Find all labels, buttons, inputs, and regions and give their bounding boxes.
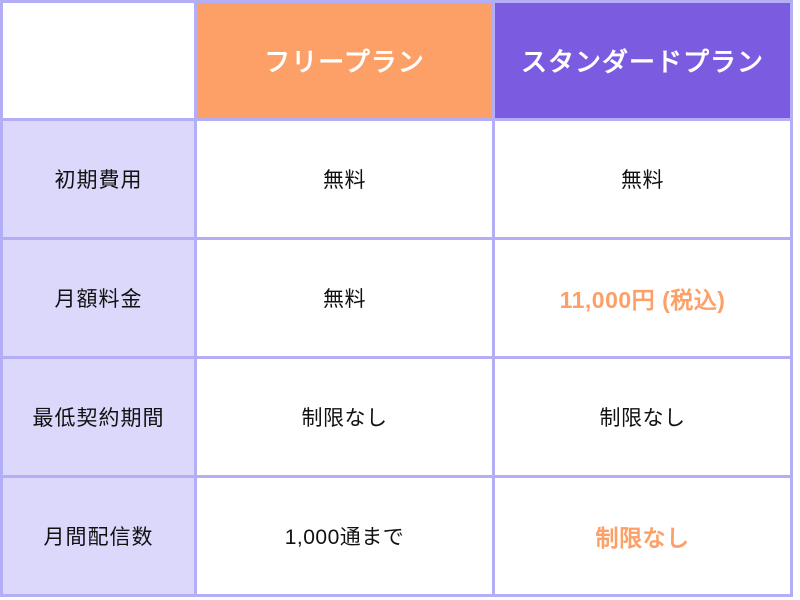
row-label-monthly-delivery-count: 月間配信数 bbox=[2, 477, 196, 596]
table-header-row: フリープラン スタンダードプラン bbox=[2, 2, 792, 120]
plan-comparison-table: フリープラン スタンダードプラン 初期費用 無料 無料 月額料金 無料 11,0… bbox=[0, 0, 793, 597]
row-label-monthly-fee: 月額料金 bbox=[2, 239, 196, 358]
cell-standard-initial-cost: 無料 bbox=[494, 120, 792, 239]
table-row: 月間配信数 1,000通まで 制限なし bbox=[2, 477, 792, 596]
table-header: フリープラン スタンダードプラン bbox=[2, 2, 792, 120]
cell-free-minimum-contract-period: 制限なし bbox=[196, 358, 494, 477]
column-header-standard-plan: スタンダードプラン bbox=[494, 2, 792, 120]
table-row: 月額料金 無料 11,000円 (税込) bbox=[2, 239, 792, 358]
table-row: 最低契約期間 制限なし 制限なし bbox=[2, 358, 792, 477]
cell-free-monthly-fee: 無料 bbox=[196, 239, 494, 358]
table-body: 初期費用 無料 無料 月額料金 無料 11,000円 (税込) 最低契約期間 制… bbox=[2, 120, 792, 596]
table-corner-cell bbox=[2, 2, 196, 120]
cell-standard-minimum-contract-period: 制限なし bbox=[494, 358, 792, 477]
cell-standard-monthly-fee: 11,000円 (税込) bbox=[494, 239, 792, 358]
table-row: 初期費用 無料 無料 bbox=[2, 120, 792, 239]
cell-free-monthly-delivery-count: 1,000通まで bbox=[196, 477, 494, 596]
cell-standard-monthly-delivery-count: 制限なし bbox=[494, 477, 792, 596]
row-label-minimum-contract-period: 最低契約期間 bbox=[2, 358, 196, 477]
row-label-initial-cost: 初期費用 bbox=[2, 120, 196, 239]
cell-free-initial-cost: 無料 bbox=[196, 120, 494, 239]
column-header-free-plan: フリープラン bbox=[196, 2, 494, 120]
